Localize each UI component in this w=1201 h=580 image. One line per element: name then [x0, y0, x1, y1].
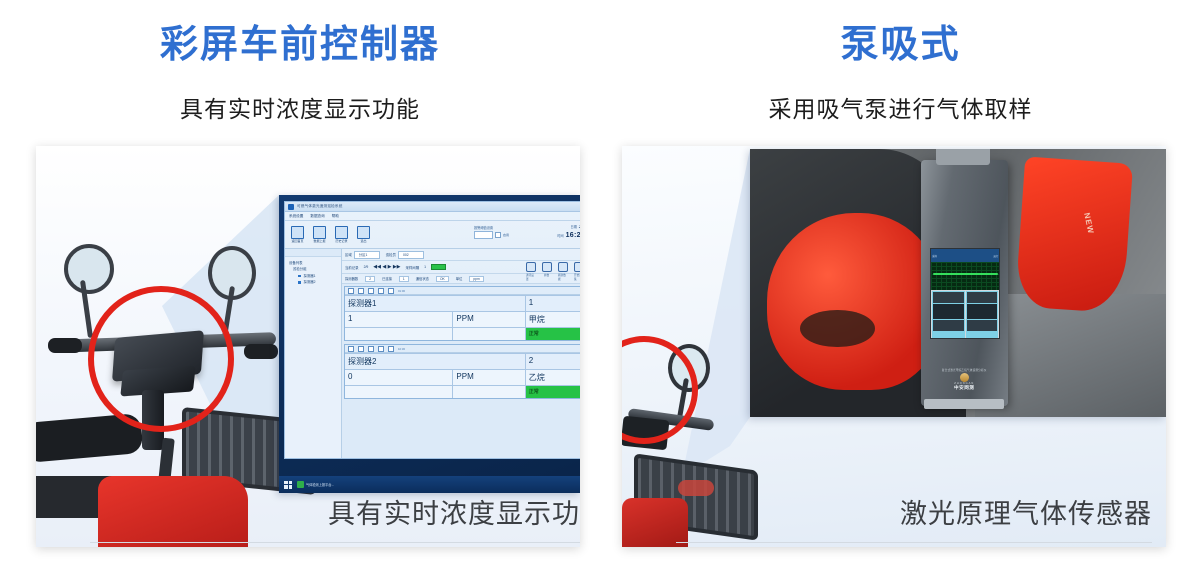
panel-subheading-right: 采用吸气泵进行气体取样 [600, 74, 1201, 121]
status-row: 区域 分区1 巡检员 002 [342, 249, 580, 261]
screen-header: 采样 运行 [931, 249, 999, 261]
device-tree-panel: 设备列表 巡检分组 探测器1 探测器2 [285, 249, 342, 459]
grip-left [48, 338, 82, 353]
menu-item-1[interactable]: 数据查询 [310, 214, 324, 219]
gear-icon [542, 262, 552, 272]
nav-record-label: 当前记录 [345, 265, 359, 270]
toolbar-label-0: 返回首页 [291, 240, 303, 243]
nav-buttons[interactable]: ◀◀ ◀ ▶ ▶▶ [373, 264, 400, 270]
detector-1-gas: 甲烷 [526, 311, 580, 327]
alarm-threshold-field-row: 启用 [474, 231, 509, 239]
detector-1-spacer [345, 327, 453, 340]
nav-interval-value: 1 [424, 265, 426, 269]
export-icon[interactable] [378, 288, 384, 294]
detector-1-tools: 01:00 [345, 287, 580, 295]
status-area-value[interactable]: 分区1 [354, 251, 380, 259]
alarm-enable-checkbox[interactable] [495, 232, 501, 238]
helmet-opening [800, 310, 875, 348]
photo-analyzer-scene: NEW 采样 运行 [622, 146, 1166, 547]
time-row: 时间 16:23:31 [557, 231, 580, 242]
sort-icon[interactable] [358, 288, 364, 294]
sub-value-2: OK [436, 276, 449, 282]
detector-2-status: 正常 [526, 385, 580, 398]
sort-icon-2[interactable] [358, 346, 364, 352]
sub-value-3: ppm [469, 276, 483, 282]
app-window-icon [288, 204, 294, 210]
toolbar-label-2: 历史记录 [335, 240, 347, 243]
app-workarea: 设备列表 巡检分组 探测器1 探测器2 [285, 249, 580, 459]
status-inspector-value[interactable]: 002 [398, 251, 424, 259]
status-inspector-label: 巡检员 [386, 252, 396, 257]
analyzer-screen: 采样 运行 [930, 248, 1000, 339]
action-start-button[interactable]: 开始采集 [574, 262, 580, 281]
detector-2-spacer [345, 385, 453, 398]
status-area-label: 区域 [345, 252, 352, 257]
screen-status: 运行 [994, 254, 999, 258]
media-card-left: 可燃气体激光遥测巡检系统 系统设置 数据查询 帮助 返回首页 [36, 146, 580, 547]
action-refresh-button[interactable]: 刷新数据 [558, 262, 567, 281]
export-icon-2[interactable] [378, 346, 384, 352]
taskbar-app-item[interactable]: 气体检测上报平台... [297, 481, 334, 488]
play-icon [574, 262, 581, 272]
action-label-0: 通讯设置 [526, 273, 535, 281]
alarm-threshold-group: 报警阈值设置 启用 [474, 225, 509, 239]
tree-bullet-icon [298, 275, 301, 278]
app-titlebar: 可燃气体激光遥测巡检系统 [285, 202, 580, 212]
exit-icon [357, 226, 370, 239]
card-caption-right: 激光原理气体传感器 [622, 492, 1166, 537]
sub-value-0: 2 [365, 276, 375, 282]
tree-node-detector2[interactable]: 探测器2 [287, 279, 339, 285]
photo-ebike-controller: 可燃气体激光遥测巡检系统 系统设置 数据查询 帮助 返回首页 [36, 146, 580, 547]
action-icon-row: 通讯设置 参数 刷新数据 开始采集 停止采集 [526, 262, 580, 281]
nav-record-value: 2/9 [364, 265, 369, 269]
sub-label-3: 单位 [456, 276, 463, 281]
alarm-enable-label: 启用 [503, 233, 509, 237]
toolbar-label-3: 退出 [360, 240, 366, 243]
tree-bullet-icon-2 [298, 281, 301, 284]
panel-controller: 彩屏车前控制器 具有实时浓度显示功能 [0, 0, 600, 580]
status-inspector: 巡检员 002 [386, 251, 424, 259]
screen-waveform-chart [931, 262, 999, 290]
tree-header [285, 249, 341, 257]
action-network-button[interactable]: 通讯设置 [526, 262, 535, 281]
sub-label-1: 已连接 [382, 276, 392, 281]
lock-icon[interactable] [348, 288, 354, 294]
lock-icon-2[interactable] [348, 346, 354, 352]
caption-rule-left [90, 542, 580, 543]
readout-methane-value [933, 304, 964, 319]
tree-node-label-0: 探测器1 [303, 274, 315, 278]
close-icon[interactable] [388, 288, 394, 294]
detector-pane: 区域 分区1 巡检员 002 当前记录 [342, 249, 580, 459]
detector-2-grid: 探测器2 2 0 PPM 乙烷 正常 [345, 353, 580, 398]
alarm-threshold-input[interactable] [474, 231, 493, 239]
screen-title: 采样 [932, 254, 937, 258]
alarm-threshold-label: 报警阈值设置 [474, 225, 509, 230]
sub-label-0: 探测器数 [345, 276, 358, 281]
app-toolbar: 返回首页 数据上报 历史记录 [285, 221, 580, 249]
detector-2-tool-label: 10:30 [398, 347, 405, 351]
detector-2-value: 0 [345, 369, 453, 385]
detector-2-name: 探测器2 [345, 353, 526, 369]
app-icon [297, 481, 304, 488]
status-area: 区域 分区1 [345, 251, 380, 259]
readout-pane-methane [932, 291, 965, 339]
readout-ethane-label [967, 292, 998, 303]
nav-row: 当前记录 2/9 ◀◀ ◀ ▶ ▶▶ 采样间隔 1 通讯设置 参数 [342, 261, 580, 274]
nav-interval-label: 采样间隔 [406, 265, 420, 270]
readout-ethane-unit [967, 320, 998, 331]
windows-taskbar: 气体检测上报平台... [279, 476, 580, 493]
report-icon [313, 226, 326, 239]
taskbar-app-label: 气体检测上报平台... [306, 482, 334, 487]
toolbar-exit-button[interactable]: 退出 [357, 226, 370, 243]
date-row: 日期 2021/1/2 [557, 224, 580, 231]
screen-readout-panes [931, 290, 999, 339]
date-value: 2021/1/2 [579, 224, 580, 231]
detector-2-spacer-2 [453, 385, 525, 398]
date-label: 日期 [571, 225, 577, 230]
detector-2-tools: 10:30 [345, 345, 580, 353]
media-card-right: NEW 采样 运行 [622, 146, 1166, 547]
analyzer-model-line: 复合式激光甲烷乙烷气体遥测分析仪 [926, 368, 1003, 372]
detector-2-gas: 乙烷 [526, 369, 580, 385]
readout-pane-ethane [966, 291, 999, 339]
detector-1-status: 正常 [526, 327, 580, 340]
detector-1-name: 探测器1 [345, 295, 526, 311]
app-menubar: 系统设置 数据查询 帮助 [285, 212, 580, 221]
clock-group: 日期 2021/1/2 时间 16:23:31 [557, 224, 580, 241]
app-title-text: 可燃气体激光遥测巡检系统 [297, 204, 343, 209]
readout-ethane-value [967, 304, 998, 319]
brand-logo-icon [960, 373, 969, 382]
network-icon [526, 262, 536, 272]
toolbar-history-button[interactable]: 历史记录 [335, 226, 348, 243]
detector-2-index: 2 [526, 353, 580, 369]
detector-1-tool-label: 01:00 [398, 289, 405, 293]
panel-pump-suction: 泵吸式 采用吸气泵进行气体取样 [600, 0, 1201, 580]
panel-heading-right: 泵吸式 [600, 0, 1201, 74]
toolbar-label-1: 数据上报 [313, 240, 325, 243]
gas-analyzer-device: 采样 运行 [921, 160, 1008, 407]
detector-1-value: 1 [345, 311, 453, 327]
action-label-1: 参数 [544, 273, 549, 277]
action-label-2: 刷新数据 [558, 273, 567, 281]
toolbar-report-button[interactable]: 数据上报 [313, 226, 326, 243]
action-label-3: 开始采集 [574, 273, 580, 281]
brand-name-cn: 中安网测 [926, 385, 1003, 391]
detector-1-grid: 探测器1 1 1 PPM 甲烷 正常 [345, 295, 580, 340]
time-label: 时间 [557, 234, 563, 239]
readout-methane-unit [933, 320, 964, 331]
detector-list: 01:00 探测器1 1 1 PPM 甲烷 [342, 284, 580, 459]
analyzer-photo-inset: NEW 采样 运行 [750, 149, 1166, 417]
detector-1-spacer-2 [453, 327, 525, 340]
time-value: 16:23:31 [566, 231, 580, 242]
readout-methane-label [933, 292, 964, 303]
analyzer-brand-block: 复合式激光甲烷乙烷气体遥测分析仪 ZHONGAN 中安网测 [926, 368, 1003, 392]
software-screenshot-inset: 可燃气体激光遥测巡检系统 系统设置 数据查询 帮助 返回首页 [279, 195, 580, 493]
mirror-left-icon [64, 244, 114, 294]
detector-1-unit: PPM [453, 311, 525, 327]
menu-item-2[interactable]: 帮助 [332, 214, 339, 219]
comparison-page: 彩屏车前控制器 具有实时浓度显示功能 [0, 0, 1201, 580]
monitoring-app-window: 可燃气体激光遥测巡检系统 系统设置 数据查询 帮助 返回首页 [284, 201, 580, 459]
detector-1-index: 1 [526, 295, 580, 311]
red-helmet [767, 213, 942, 390]
windows-start-icon[interactable] [284, 481, 292, 489]
card-caption-left: 具有实时浓度显示功 [36, 492, 580, 537]
home-icon [291, 226, 304, 239]
grip-right [244, 344, 278, 359]
tree-node-label-1: 探测器2 [303, 280, 315, 284]
analyzer-base [924, 399, 1004, 409]
analyzer-handle [936, 149, 990, 165]
toolbar-home-button[interactable]: 返回首页 [291, 226, 304, 243]
sub-label-2: 通信状态 [416, 276, 429, 281]
signal-indicator [431, 264, 446, 270]
detector-card-1: 01:00 探测器1 1 1 PPM 甲烷 [344, 286, 580, 341]
highlight-circle-left [88, 286, 234, 432]
detector-2-unit: PPM [453, 369, 525, 385]
sub-value-1: 1 [399, 276, 409, 282]
clock-icon-2[interactable] [368, 346, 374, 352]
caption-rule-right [676, 542, 1152, 543]
list-icon [335, 226, 348, 239]
action-settings-button[interactable]: 参数 [542, 262, 551, 281]
refresh-icon [558, 262, 568, 272]
clock-icon[interactable] [368, 288, 374, 294]
menu-item-0[interactable]: 系统设置 [289, 214, 303, 219]
close-icon-2[interactable] [388, 346, 394, 352]
panel-subheading-left: 具有实时浓度显示功能 [0, 74, 600, 121]
panel-heading-left: 彩屏车前控制器 [0, 0, 600, 74]
detector-card-2: 10:30 探测器2 2 0 PPM 乙烷 [344, 344, 580, 399]
